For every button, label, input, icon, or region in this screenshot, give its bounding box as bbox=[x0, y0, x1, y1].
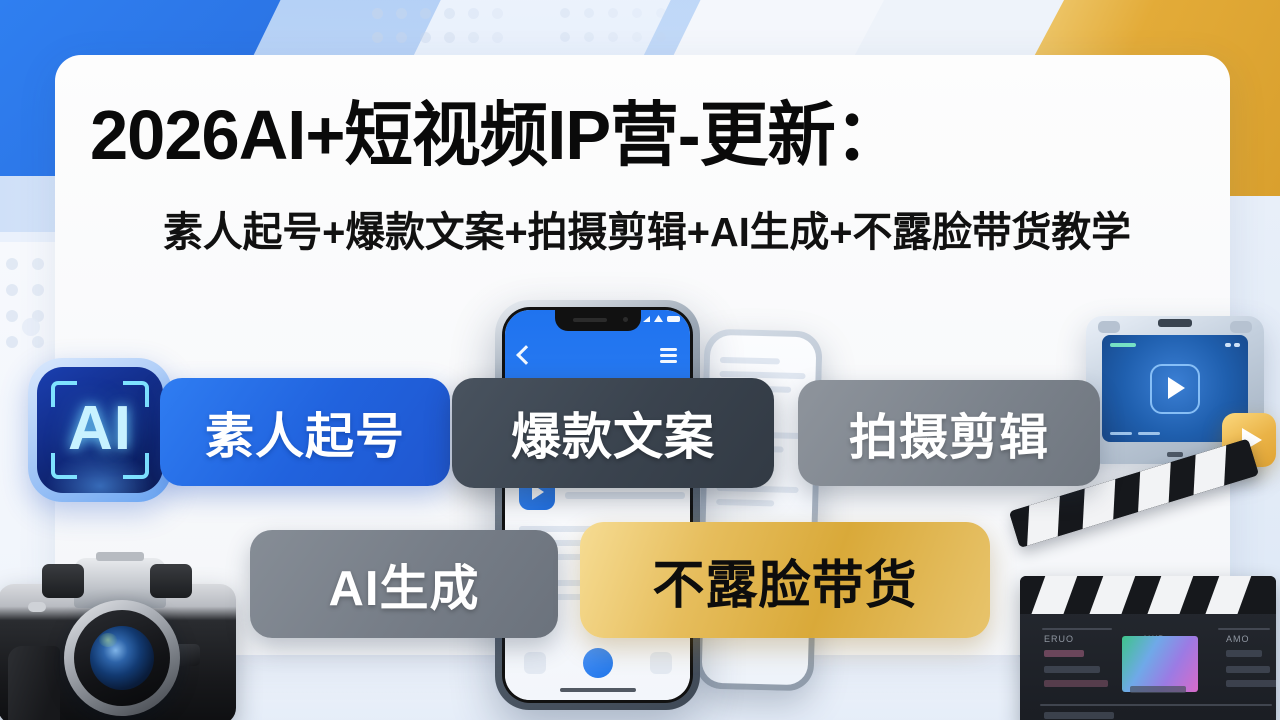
phone-bottom-dock bbox=[505, 648, 690, 678]
phone-screen bbox=[505, 310, 690, 700]
ai-logo-badge: AI bbox=[28, 358, 172, 502]
home-indicator bbox=[560, 688, 636, 692]
pill-baokuan-wenan[interactable]: 爆款文案 bbox=[452, 378, 774, 488]
phone-status-icons bbox=[643, 315, 680, 322]
clapper-info-rows: ERUO AWD AMO bbox=[1030, 624, 1266, 720]
dock-icon-left[interactable] bbox=[524, 652, 546, 674]
tablet-status-tag bbox=[1110, 343, 1136, 347]
clapper-label-3: AMO bbox=[1226, 634, 1250, 644]
decor-blob-2 bbox=[22, 318, 40, 336]
ai-scan-frame-icon: AI bbox=[37, 367, 163, 493]
page-subtitle: 素人起号+爆款文案+拍摄剪辑+AI生成+不露脸带货教学 bbox=[89, 212, 1205, 253]
clapper-board: ERUO AWD AMO bbox=[1020, 576, 1276, 720]
dock-icon-right[interactable] bbox=[650, 652, 672, 674]
dslr-camera bbox=[0, 548, 242, 720]
back-chevron-icon[interactable] bbox=[516, 345, 536, 365]
clapper-board-stripes bbox=[1020, 576, 1276, 614]
phone-notch bbox=[555, 310, 641, 331]
movie-clapperboard: ERUO AWD AMO bbox=[1014, 500, 1280, 720]
camera-lens bbox=[64, 600, 180, 716]
poster-canvas: 2026AI+短视频IP营-更新： 素人起号+爆款文案+拍摄剪辑+AI生成+不露… bbox=[0, 0, 1280, 720]
tablet-meta-labels bbox=[1110, 432, 1160, 435]
phone-mockup-front bbox=[495, 300, 700, 710]
pill-suren-qihao[interactable]: 素人起号 bbox=[160, 378, 450, 486]
clapper-thumbnail bbox=[1122, 636, 1198, 692]
tablet-status-dots bbox=[1225, 343, 1240, 347]
play-button-icon[interactable] bbox=[1150, 364, 1200, 414]
clapper-label-1: ERUO bbox=[1044, 634, 1074, 644]
hamburger-menu-icon[interactable] bbox=[660, 348, 677, 366]
page-title: 2026AI+短视频IP营-更新： bbox=[90, 100, 1178, 170]
dot-grid-pattern-top-right bbox=[560, 8, 680, 48]
ai-badge-label: AI bbox=[37, 398, 163, 460]
pill-bulu-lian-daihuo[interactable]: 不露脸带货 bbox=[580, 522, 990, 638]
pill-ai-shengcheng[interactable]: AI生成 bbox=[250, 530, 558, 638]
pill-paishe-jianji[interactable]: 拍摄剪辑 bbox=[798, 380, 1100, 486]
dock-icon-center[interactable] bbox=[583, 648, 613, 678]
phone-bezel bbox=[502, 307, 693, 703]
